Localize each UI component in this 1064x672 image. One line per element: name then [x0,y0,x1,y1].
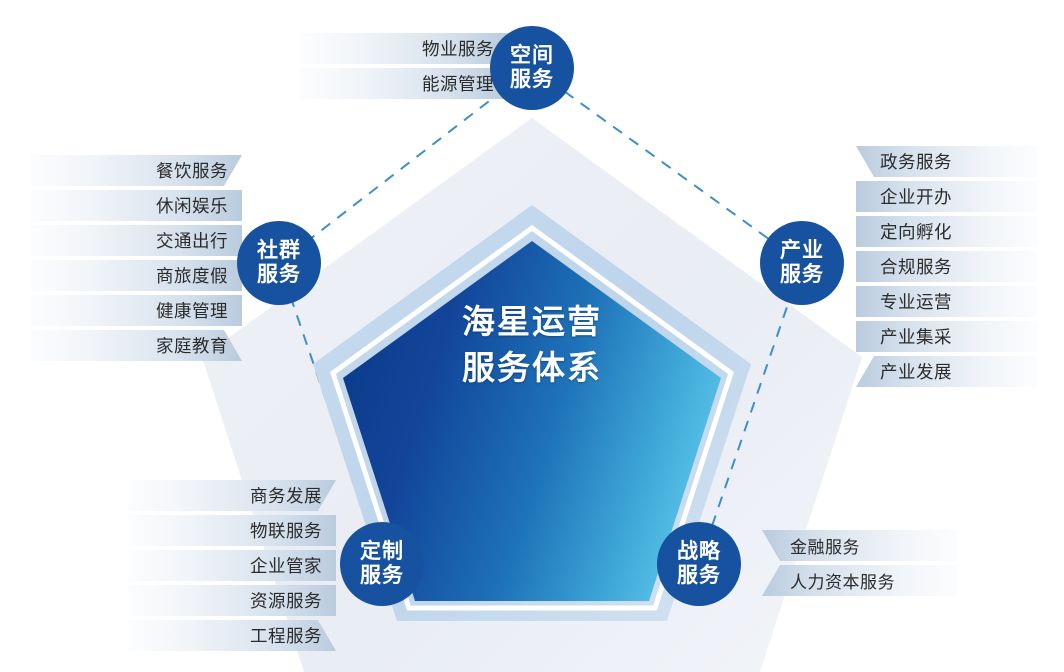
node-strategy-line1: 战略 [677,540,721,564]
label-bar-text: 人力资本服务 [762,568,895,593]
label-bar-industry-6[interactable]: 产业发展 [856,356,1038,387]
label-bar-industry-2[interactable]: 定向孵化 [856,216,1038,247]
node-community-line2: 服务 [257,263,301,287]
label-bar-text: 专业运营 [856,289,952,314]
node-space-service[interactable]: 空间 服务 [490,26,574,110]
label-bar-custom-0[interactable]: 商务发展 [128,480,336,511]
label-group-strategy: 金融服务人力资本服务 [762,530,958,596]
label-bar-text: 交通出行 [156,228,242,253]
label-bar-text: 企业开办 [856,184,952,209]
label-group-custom: 商务发展物联服务企业管家资源服务工程服务 [128,480,336,651]
label-bar-space-0[interactable]: 物业服务 [300,33,508,64]
label-bar-text: 企业管家 [250,553,336,578]
label-group-industry: 政务服务企业开办定向孵化合规服务专业运营产业集采产业发展 [856,146,1038,387]
label-bar-industry-1[interactable]: 企业开办 [856,181,1038,212]
label-bar-strategy-0[interactable]: 金融服务 [762,530,958,561]
label-bar-text: 资源服务 [250,588,336,613]
label-bar-community-0[interactable]: 餐饮服务 [30,155,242,186]
node-industry-line1: 产业 [780,239,824,263]
node-community-line1: 社群 [257,239,301,263]
node-community-service[interactable]: 社群 服务 [237,221,321,305]
label-bar-custom-1[interactable]: 物联服务 [128,515,336,546]
label-bar-text: 政务服务 [856,149,952,174]
node-custom-service[interactable]: 定制 服务 [340,522,424,606]
node-custom-line2: 服务 [360,564,404,588]
label-bar-text: 金融服务 [762,533,860,558]
label-bar-text: 商务发展 [250,483,336,508]
label-bar-text: 定向孵化 [856,219,952,244]
label-bar-text: 合规服务 [856,254,952,279]
label-bar-text: 产业发展 [856,359,952,384]
node-custom-line1: 定制 [360,540,404,564]
label-bar-community-3[interactable]: 商旅度假 [30,260,242,291]
label-bar-custom-2[interactable]: 企业管家 [128,550,336,581]
label-bar-industry-0[interactable]: 政务服务 [856,146,1038,177]
center-title: 海星运营 服务体系 [432,299,632,390]
node-space-line1: 空间 [510,44,554,68]
node-industry-line2: 服务 [780,263,824,287]
label-bar-industry-4[interactable]: 专业运营 [856,286,1038,317]
label-bar-text: 休闲娱乐 [156,193,242,218]
label-bar-text: 商旅度假 [156,263,242,288]
label-bar-community-4[interactable]: 健康管理 [30,295,242,326]
label-bar-community-5[interactable]: 家庭教育 [30,330,242,361]
node-space-line2: 服务 [510,68,554,92]
label-bar-custom-4[interactable]: 工程服务 [128,620,336,651]
label-bar-industry-5[interactable]: 产业集采 [856,321,1038,352]
label-bar-text: 家庭教育 [156,333,242,358]
label-bar-text: 餐饮服务 [156,158,242,183]
label-bar-text: 物联服务 [250,518,336,543]
node-strategy-service[interactable]: 战略 服务 [657,522,741,606]
label-group-space: 物业服务能源管理 [300,33,508,99]
label-bar-strategy-1[interactable]: 人力资本服务 [762,565,958,596]
diagram-canvas: 空间 服务 产业 服务 战略 服务 定制 服务 社群 服务 海星运营 服务体系 … [0,0,1064,672]
label-bar-text: 健康管理 [156,298,242,323]
label-bar-industry-3[interactable]: 合规服务 [856,251,1038,282]
label-bar-text: 产业集采 [856,324,952,349]
label-bar-text: 工程服务 [250,623,336,648]
center-title-line2: 服务体系 [432,345,632,391]
label-bar-community-1[interactable]: 休闲娱乐 [30,190,242,221]
label-bar-custom-3[interactable]: 资源服务 [128,585,336,616]
label-bar-community-2[interactable]: 交通出行 [30,225,242,256]
label-group-community: 餐饮服务休闲娱乐交通出行商旅度假健康管理家庭教育 [30,155,242,361]
node-industry-service[interactable]: 产业 服务 [760,221,844,305]
node-strategy-line2: 服务 [677,564,721,588]
label-bar-space-1[interactable]: 能源管理 [300,68,508,99]
center-title-line1: 海星运营 [432,299,632,345]
